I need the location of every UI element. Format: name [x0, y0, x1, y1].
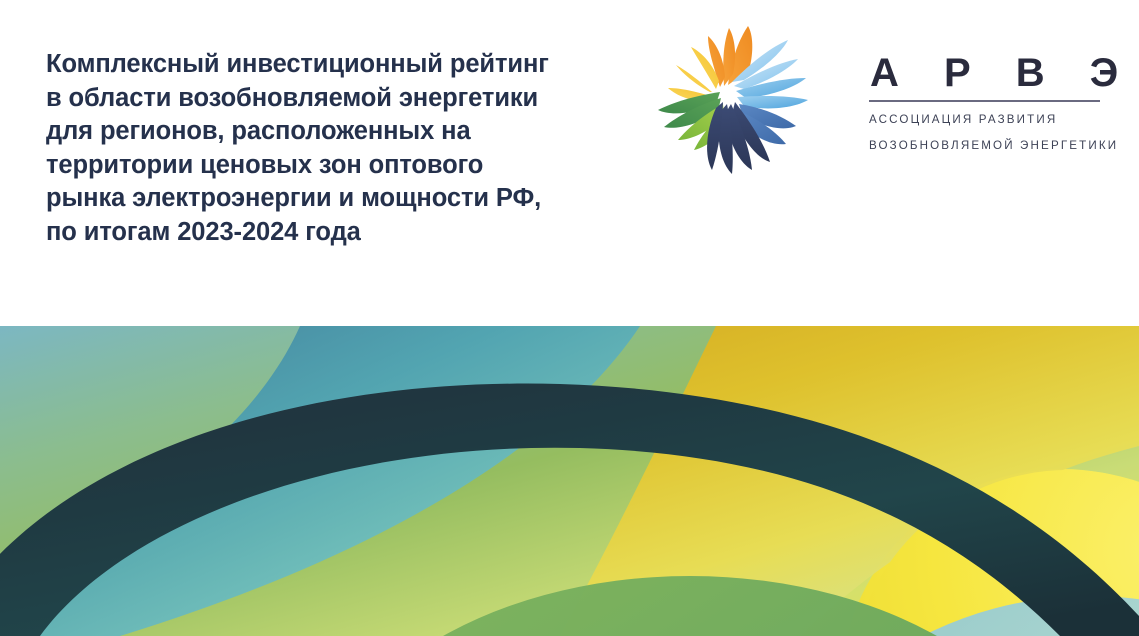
title-line-4: территории ценовых зон оптового [46, 149, 646, 183]
wordmark-subtitle-line1: АССОЦИАЦИЯ РАЗВИТИЯ [869, 111, 1101, 129]
abstract-renewable-energy-graphic [0, 326, 1139, 636]
header-band: Комплексный инвестиционный рейтинг в обл… [0, 0, 1139, 326]
title-line-1: Комплексный инвестиционный рейтинг [46, 48, 646, 82]
wordmark-letters: А Р В Э [869, 50, 1101, 96]
presentation-slide: Комплексный инвестиционный рейтинг в обл… [0, 0, 1139, 636]
title-line-3: для регионов, расположенных на [46, 115, 646, 149]
arve-wordmark: А Р В Э АССОЦИАЦИЯ РАЗВИТИЯ ВОЗОБНОВЛЯЕМ… [869, 50, 1101, 155]
title-line-5: рынка электроэнергии и мощности РФ, [46, 182, 646, 216]
arve-pinwheel-logo-icon [636, 12, 848, 192]
title-line-6: по итогам 2023-2024 года [46, 216, 646, 250]
wordmark-divider [869, 100, 1100, 102]
page-title: Комплексный инвестиционный рейтинг в обл… [46, 48, 646, 250]
wordmark-subtitle-line2: ВОЗОБНОВЛЯЕМОЙ ЭНЕРГЕТИКИ [869, 137, 1101, 155]
title-line-2: в области возобновляемой энергетики [46, 82, 646, 116]
